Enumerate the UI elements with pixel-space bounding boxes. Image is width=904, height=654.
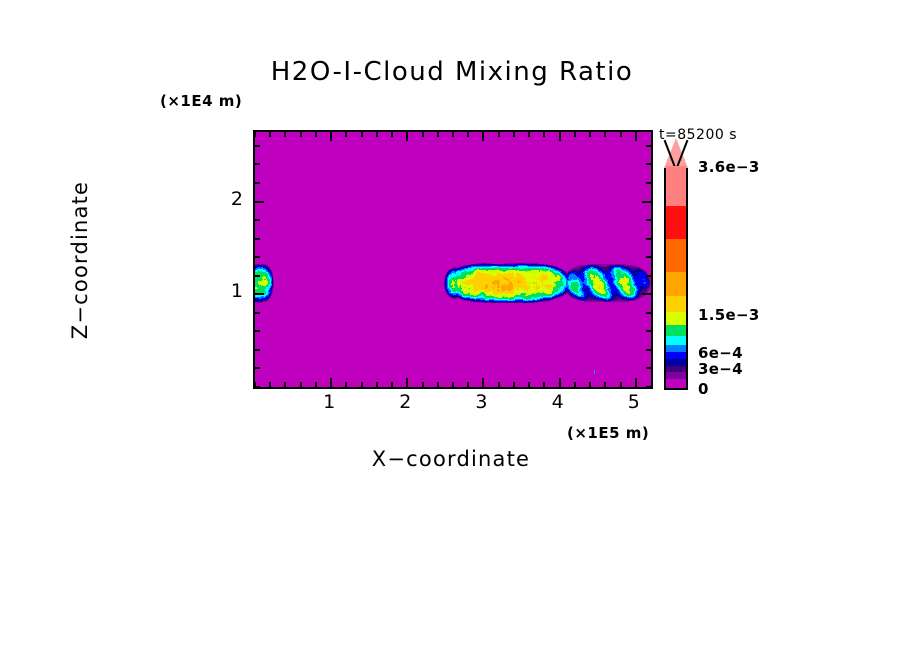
scalar-field-render [255, 132, 651, 387]
y-tick [255, 367, 260, 369]
x-tick [589, 382, 591, 387]
x-tick [498, 132, 500, 137]
y-tick [646, 182, 651, 184]
y-tick [255, 386, 260, 388]
x-tick-label: 2 [385, 391, 425, 413]
x-tick [391, 382, 393, 387]
colorbar-band [666, 325, 686, 336]
x-tick [620, 382, 622, 387]
x-tick [361, 382, 363, 387]
y-tick-label: 1 [203, 280, 243, 302]
colorbar-bands [664, 168, 688, 390]
x-tick [589, 132, 591, 137]
x-tick [482, 132, 484, 141]
x-tick [437, 132, 439, 137]
colorbar-band [666, 359, 686, 366]
x-tick [604, 382, 606, 387]
y-tick [255, 238, 260, 240]
page-title: H2O-I-Cloud Mixing Ratio [0, 57, 904, 87]
y-axis-title: Z−coordinate [68, 120, 92, 400]
colorbar-band [666, 366, 686, 373]
x-tick [498, 382, 500, 387]
x-tick [315, 382, 317, 387]
x-tick [254, 132, 256, 137]
colorbar-tick-label: 1.5e−3 [698, 306, 760, 324]
x-tick [406, 132, 408, 141]
y-tick [646, 256, 651, 258]
x-tick [269, 132, 271, 137]
x-tick [284, 382, 286, 387]
y-tick [255, 163, 260, 165]
y-tick [255, 256, 260, 258]
y-tick [646, 145, 651, 147]
colorbar-band [666, 345, 686, 353]
y-tick [255, 349, 260, 351]
x-tick [604, 132, 606, 137]
colorbar-band [666, 336, 686, 345]
x-tick [635, 378, 637, 387]
colorbar-tick-label: 3e−4 [698, 360, 743, 378]
colorbar: 03e−46e−41.5e−33.6e−3 [664, 168, 688, 390]
x-tick-label: 1 [309, 391, 349, 413]
y-tick [646, 312, 651, 314]
x-axis-title: X−coordinate [253, 447, 649, 471]
y-tick [255, 293, 264, 295]
y-tick-label: 2 [203, 188, 243, 210]
x-tick [513, 382, 515, 387]
x-tick [574, 382, 576, 387]
x-tick-label: 3 [461, 391, 501, 413]
y-axis-unit-label: (×1E4 m) [160, 92, 242, 110]
x-tick-label: 5 [614, 391, 654, 413]
x-tick [437, 382, 439, 387]
y-tick [646, 367, 651, 369]
x-tick [528, 132, 530, 137]
colorbar-tick-label: 0 [698, 380, 709, 398]
x-tick [300, 382, 302, 387]
x-tick [345, 382, 347, 387]
x-tick [559, 132, 561, 141]
x-tick [284, 132, 286, 137]
y-tick [642, 201, 651, 203]
y-tick [646, 219, 651, 221]
x-tick [422, 382, 424, 387]
colorbar-band [666, 312, 686, 325]
x-tick [269, 382, 271, 387]
y-tick [255, 182, 260, 184]
x-tick [467, 132, 469, 137]
x-tick [330, 132, 332, 141]
colorbar-band [666, 166, 686, 206]
x-tick [559, 378, 561, 387]
x-tick [620, 132, 622, 137]
x-tick [345, 132, 347, 137]
x-tick [543, 132, 545, 137]
colorbar-band [666, 372, 686, 379]
y-tick [646, 349, 651, 351]
colorbar-band [666, 352, 686, 359]
x-tick [467, 382, 469, 387]
x-tick [513, 132, 515, 137]
y-tick [255, 312, 260, 314]
y-tick [646, 238, 651, 240]
x-tick [422, 132, 424, 137]
x-tick [482, 378, 484, 387]
y-tick [646, 163, 651, 165]
x-tick [376, 382, 378, 387]
colorbar-band [666, 296, 686, 312]
x-tick [315, 132, 317, 137]
colorbar-band [666, 206, 686, 239]
y-tick [646, 386, 651, 388]
y-tick [255, 201, 264, 203]
x-tick [452, 132, 454, 137]
y-tick [255, 219, 260, 221]
y-tick [646, 330, 651, 332]
colorbar-band [666, 272, 686, 296]
x-tick [574, 132, 576, 137]
x-tick [330, 378, 332, 387]
x-tick [452, 382, 454, 387]
y-tick [642, 293, 651, 295]
x-tick [543, 382, 545, 387]
colorbar-tick-label: 6e−4 [698, 344, 743, 362]
y-tick [646, 275, 651, 277]
x-tick-label: 4 [538, 391, 578, 413]
x-tick [361, 132, 363, 137]
colorbar-band [666, 379, 686, 388]
x-tick [406, 378, 408, 387]
x-tick [528, 382, 530, 387]
contour-plot-area [253, 130, 653, 389]
colorbar-tick-label: 3.6e−3 [698, 158, 760, 176]
x-tick [635, 132, 637, 141]
x-axis-unit-label: (×1E5 m) [567, 424, 649, 442]
colorbar-band [666, 239, 686, 272]
x-tick [300, 132, 302, 137]
y-tick [255, 275, 260, 277]
y-tick [255, 145, 260, 147]
y-tick [255, 330, 260, 332]
x-tick [391, 132, 393, 137]
x-tick [376, 132, 378, 137]
